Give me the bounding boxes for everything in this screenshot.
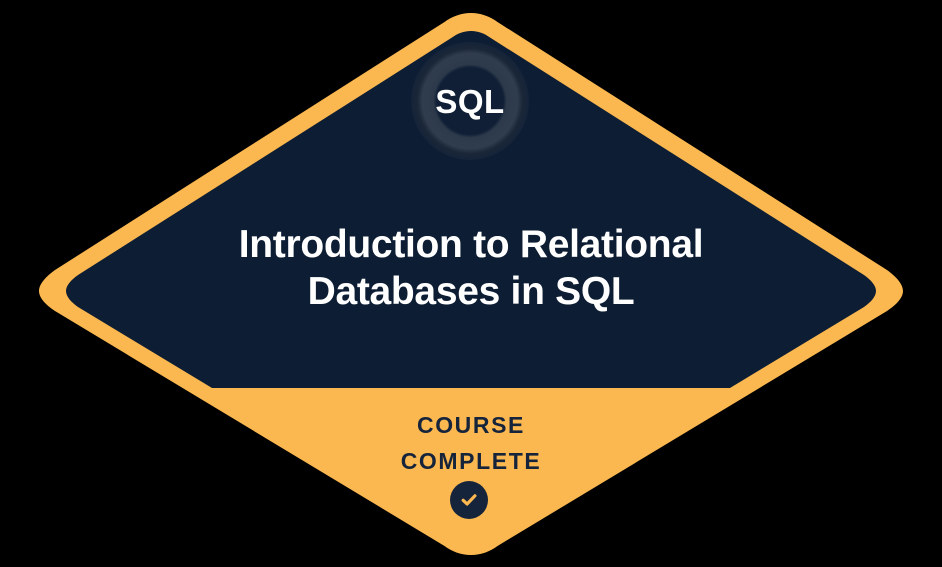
sql-ring-logo-icon: SQL: [411, 42, 529, 160]
course-title: Introduction to Relational Databases in …: [171, 221, 771, 315]
completion-status-line-2: COMPLETE: [271, 444, 671, 480]
sql-logo-label: SQL: [435, 85, 504, 118]
course-title-line-2: Databases in SQL: [308, 270, 635, 313]
completion-status-line-1: COURSE: [271, 408, 671, 444]
course-title-line-1: Introduction to Relational: [239, 223, 704, 266]
check-circle-icon: [450, 481, 488, 519]
completion-status-label: COURSE COMPLETE: [271, 408, 671, 479]
course-completion-badge: SQL Introduction to Relational Databases…: [0, 0, 942, 567]
